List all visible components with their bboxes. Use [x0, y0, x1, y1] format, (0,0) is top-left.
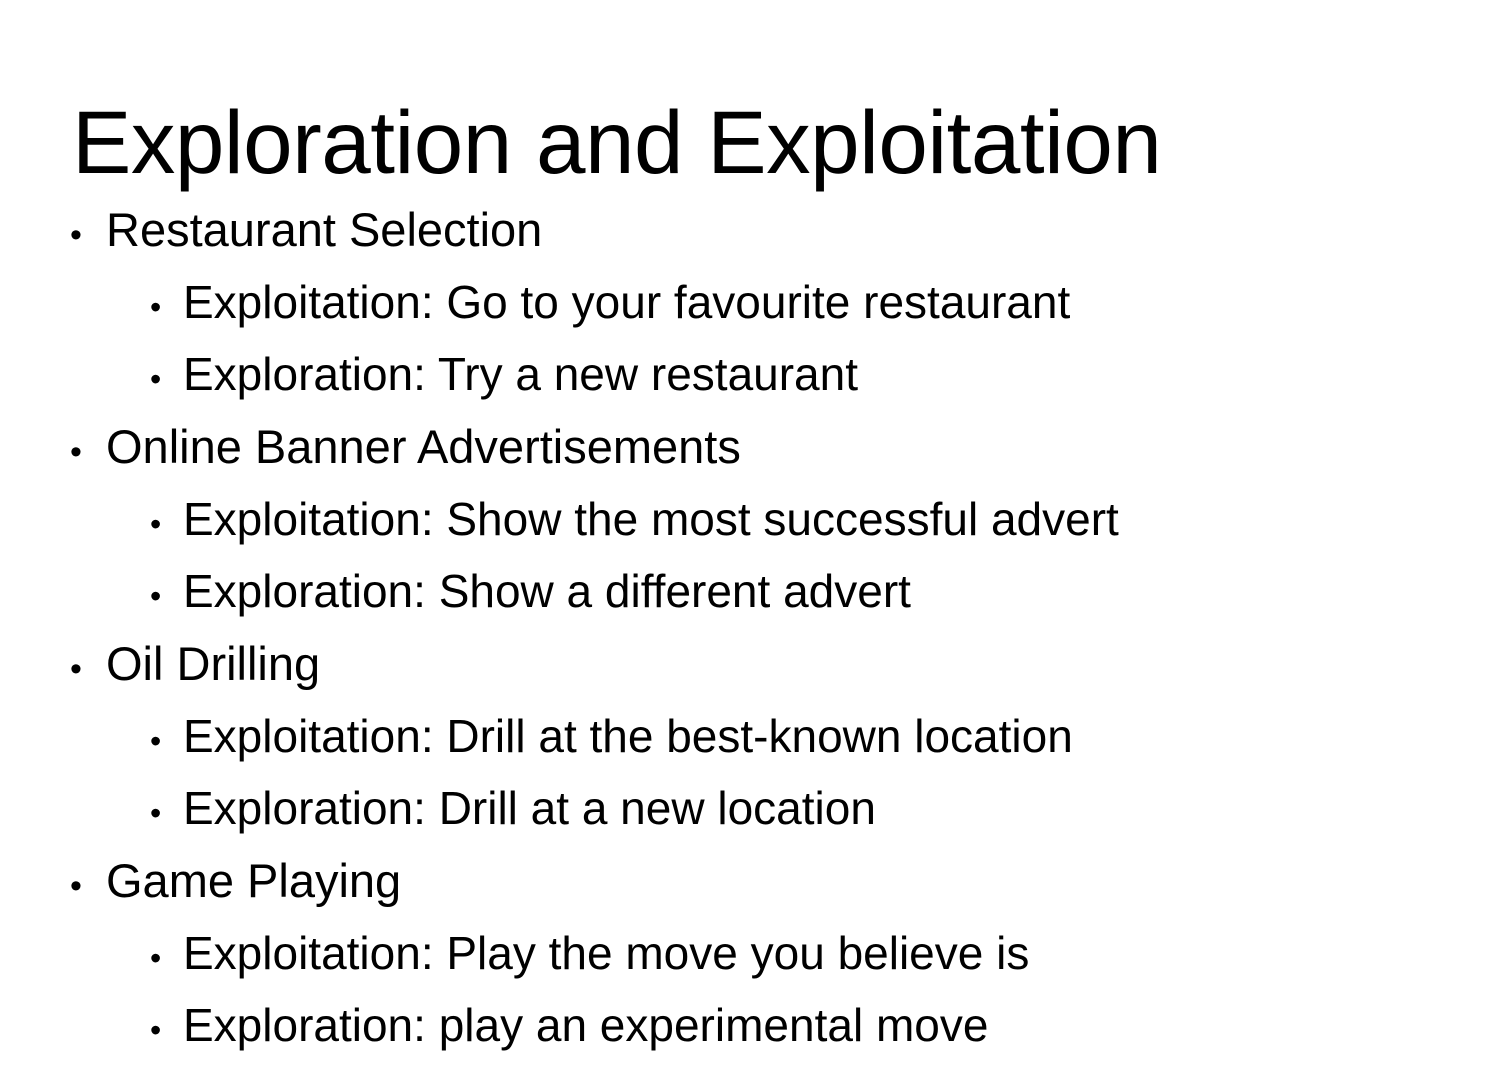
list-item-label: Exploitation: Go to your favourite resta… — [183, 269, 1070, 336]
list-item-label: Exploitation: Drill at the best-known lo… — [183, 703, 1073, 770]
list-item-label: Online Banner Advertisements — [106, 413, 741, 481]
list-item-label: Exploration: Try a new restaurant — [183, 341, 858, 408]
bullet-point-icon: • — [150, 997, 183, 1064]
bullet-point-icon: • — [150, 780, 183, 847]
bullet-group: • Game Playing • Exploitation: Play the … — [0, 847, 1500, 1064]
bullet-point-icon: • — [150, 563, 183, 630]
list-item-label: Game Playing — [106, 847, 401, 915]
list-item-label: Exploitation: Show the most successful a… — [183, 486, 1119, 553]
bullet-group: • Oil Drilling • Exploitation: Drill at … — [0, 630, 1500, 847]
list-item: • Oil Drilling — [0, 630, 1500, 703]
page-title: Exploration and Exploitation — [72, 98, 1452, 187]
list-item-label: Exploration: play an experimental move — [183, 992, 988, 1059]
list-item: • Exploration: Try a new restaurant — [0, 341, 1500, 413]
list-item: • Exploitation: Go to your favourite res… — [0, 269, 1500, 341]
bullet-point-icon: • — [70, 852, 106, 920]
list-item-label: Restaurant Selection — [106, 196, 542, 264]
list-item: • Exploitation: Drill at the best-known … — [0, 703, 1500, 775]
bullet-point-icon: • — [150, 491, 183, 558]
bullet-point-icon: • — [150, 346, 183, 413]
list-item-label: Exploration: Drill at a new location — [183, 775, 876, 842]
bullet-point-icon: • — [150, 274, 183, 341]
bullet-group: • Online Banner Advertisements • Exploit… — [0, 413, 1500, 630]
list-item: • Online Banner Advertisements — [0, 413, 1500, 486]
list-item: • Restaurant Selection — [0, 196, 1500, 269]
presentation-slide: Exploration and Exploitation • Restauran… — [0, 0, 1500, 1080]
bullet-point-icon: • — [150, 708, 183, 775]
list-item: • Exploration: play an experimental move — [0, 992, 1500, 1064]
slide-body: • Restaurant Selection • Exploitation: G… — [0, 196, 1500, 1064]
list-item: • Exploitation: Show the most successful… — [0, 486, 1500, 558]
list-item: • Game Playing — [0, 847, 1500, 920]
list-item-label: Exploration: Show a different advert — [183, 558, 911, 625]
bullet-point-icon: • — [70, 635, 106, 703]
list-item: • Exploitation: Play the move you believ… — [0, 920, 1500, 992]
list-item: • Exploration: Show a different advert — [0, 558, 1500, 630]
list-item: • Exploration: Drill at a new location — [0, 775, 1500, 847]
list-item-label: Exploitation: Play the move you believe … — [183, 920, 1029, 987]
list-item-label: Oil Drilling — [106, 630, 320, 698]
bullet-point-icon: • — [70, 201, 106, 269]
bullet-point-icon: • — [150, 925, 183, 992]
bullet-point-icon: • — [70, 418, 106, 486]
bullet-group: • Restaurant Selection • Exploitation: G… — [0, 196, 1500, 413]
